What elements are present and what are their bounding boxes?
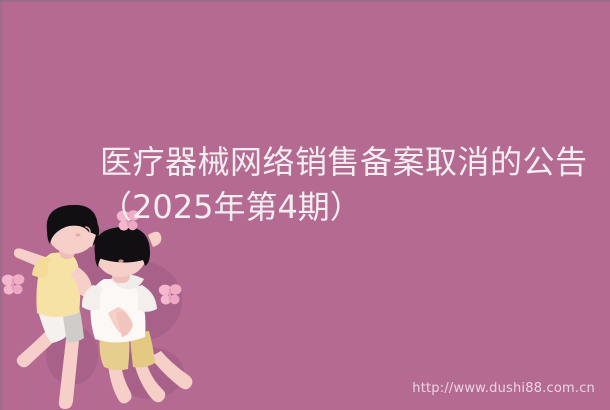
two-children-lying-illustration (0, 205, 230, 410)
title-line-1: 医疗器械网络销售备案取消的公告 (100, 140, 605, 185)
poster-title: 医疗器械网络销售备案取消的公告 （2025年第4期） (100, 140, 605, 230)
title-line-2: （2025年第4期） (100, 185, 605, 230)
top-edge-shading (0, 0, 610, 3)
butterfly-left (2, 274, 25, 294)
source-watermark: http://www.dushi88.com.cn (412, 381, 595, 396)
poster-canvas: 医疗器械网络销售备案取消的公告 （2025年第4期） http://www.du… (0, 0, 610, 410)
